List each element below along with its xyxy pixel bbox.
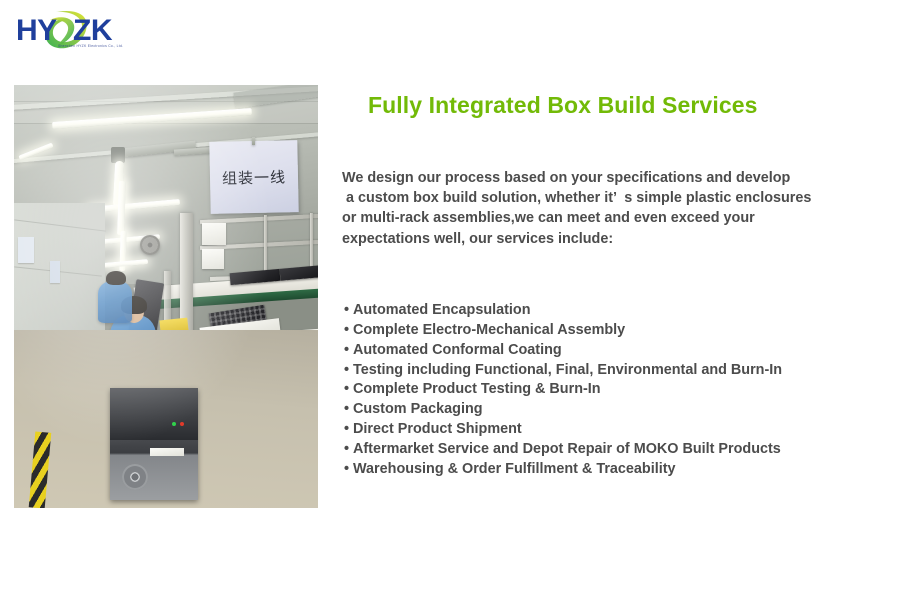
list-item-label: Warehousing & Order Fulfillment & Tracea… bbox=[353, 461, 676, 477]
intro-line: We design our process based on your spec… bbox=[342, 168, 888, 188]
intro-paragraph: We design our process based on your spec… bbox=[340, 122, 888, 249]
list-item-label: Automated Encapsulation bbox=[353, 302, 531, 318]
bullet-icon: • bbox=[344, 301, 353, 321]
intro-line: a custom box build solution, whether it’… bbox=[342, 188, 888, 208]
wall-placard bbox=[50, 261, 60, 283]
assembly-line-sign-text: 组装一线 bbox=[222, 166, 286, 188]
list-item-label: Aftermarket Service and Depot Repair of … bbox=[353, 441, 781, 457]
company-logo[interactable]: HY ZK Shenzhen HYZK Electronics Co., Ltd… bbox=[14, 6, 134, 56]
list-item: •Complete Product Testing & Burn-In bbox=[344, 380, 888, 400]
machine-led bbox=[172, 422, 176, 426]
machine-top bbox=[110, 388, 198, 440]
logo-letters-hy: HY bbox=[16, 14, 57, 47]
bullet-icon: • bbox=[344, 420, 353, 440]
list-item-label: Automated Conformal Coating bbox=[353, 342, 562, 358]
list-item: •Direct Product Shipment bbox=[344, 420, 888, 440]
list-item-label: Complete Product Testing & Burn-In bbox=[353, 381, 601, 397]
list-item-label: Custom Packaging bbox=[353, 401, 483, 417]
list-item: •Complete Electro-Mechanical Assembly bbox=[344, 321, 888, 341]
bullet-icon: • bbox=[344, 380, 353, 400]
list-item: •Warehousing & Order Fulfillment & Trace… bbox=[344, 460, 888, 480]
worker-hair bbox=[106, 271, 126, 285]
intro-line: expectations well, our services include: bbox=[342, 229, 888, 249]
list-item: •Automated Conformal Coating bbox=[344, 341, 888, 361]
bullet-icon: • bbox=[344, 440, 353, 460]
bullet-icon: • bbox=[344, 341, 353, 361]
bullet-icon: • bbox=[344, 460, 353, 480]
list-item: •Testing including Functional, Final, En… bbox=[344, 361, 888, 381]
list-item: •Automated Encapsulation bbox=[344, 301, 888, 321]
wall-placard bbox=[18, 237, 34, 263]
list-item-label: Testing including Functional, Final, Env… bbox=[353, 362, 782, 378]
page-title: Fully Integrated Box Build Services bbox=[340, 88, 888, 122]
bench-machine bbox=[110, 388, 198, 500]
machine-fan bbox=[122, 464, 148, 490]
assembly-line-sign: 组装一线 bbox=[209, 140, 298, 214]
shelf-document bbox=[202, 223, 226, 245]
logo-tagline: Shenzhen HYZK Electronics Co., Ltd. bbox=[58, 44, 123, 48]
machine-label bbox=[150, 448, 184, 456]
list-item-label: Complete Electro-Mechanical Assembly bbox=[353, 322, 625, 338]
logo-mark: HY ZK bbox=[14, 6, 134, 56]
list-item: •Custom Packaging bbox=[344, 400, 888, 420]
ceiling-fan bbox=[140, 235, 160, 255]
bullet-icon: • bbox=[344, 361, 353, 381]
list-item-label: Direct Product Shipment bbox=[353, 421, 522, 437]
factory-photo: 组装一线 bbox=[14, 85, 318, 508]
list-item: •Aftermarket Service and Depot Repair of… bbox=[344, 440, 888, 460]
logo-letters-zk: ZK bbox=[73, 14, 113, 47]
bullet-icon: • bbox=[344, 400, 353, 420]
intro-line: or multi-rack assemblies,we can meet and… bbox=[342, 208, 888, 228]
sign-hanger bbox=[252, 137, 255, 145]
machine-led bbox=[180, 422, 184, 426]
worker-body bbox=[98, 281, 132, 323]
bullet-icon: • bbox=[344, 321, 353, 341]
shelf-document bbox=[202, 249, 224, 269]
content-column: Fully Integrated Box Build Services We d… bbox=[340, 88, 888, 480]
factory-photo-scene: 组装一线 bbox=[14, 85, 318, 508]
services-list: •Automated Encapsulation •Complete Elect… bbox=[340, 249, 888, 480]
